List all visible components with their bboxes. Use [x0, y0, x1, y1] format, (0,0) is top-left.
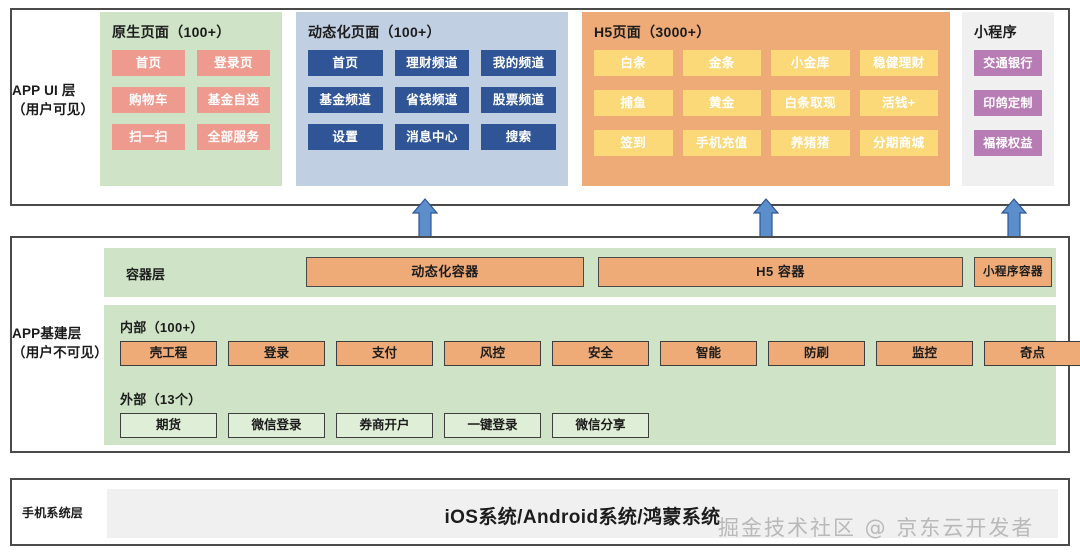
container-band-label: 容器层 [126, 264, 165, 283]
dynamic-container-box[interactable]: 动态化容器 [306, 257, 584, 287]
mini-program-chip[interactable]: 交通银行 [974, 50, 1042, 76]
h5-page-chip[interactable]: 捕鱼 [594, 90, 673, 116]
h5-page-chip[interactable]: 白条 [594, 50, 673, 76]
h5-pages-group: H5页面（3000+） 白条 金条 小金库 稳健理财 捕鱼 黄金 白条取现 活钱… [582, 12, 950, 186]
phone-os-text: iOS系统/Android系统/鸿蒙系统 [107, 502, 1058, 529]
dynamic-page-chip[interactable]: 搜索 [481, 124, 556, 150]
dynamic-page-chip[interactable]: 股票频道 [481, 87, 556, 113]
mini-program-title: 小程序 [974, 22, 1017, 42]
mini-program-chip-grid: 交通银行 印鸽定制 福禄权益 [974, 50, 1042, 156]
h5-page-chip[interactable]: 金条 [683, 50, 762, 76]
h5-page-chip[interactable]: 白条取现 [771, 90, 850, 116]
h5-page-chip[interactable]: 黄金 [683, 90, 762, 116]
h5-container-box[interactable]: H5 容器 [598, 257, 963, 287]
external-module-box[interactable]: 微信分享 [552, 413, 649, 438]
mini-program-chip[interactable]: 福禄权益 [974, 130, 1042, 156]
app-infrastructure-layer-label: APP基建层 （用户不可见） [12, 325, 116, 362]
native-pages-title: 原生页面（100+） [112, 22, 231, 42]
internal-module-box[interactable]: 智能 [660, 341, 757, 366]
native-page-chip[interactable]: 首页 [112, 50, 185, 76]
native-pages-group: 原生页面（100+） 首页 登录页 购物车 基金自选 扫一扫 全部服务 [100, 12, 282, 186]
app-infrastructure-layer-panel: 容器层 动态化容器 H5 容器 小程序容器 内部（100+） 壳工程 登录 支付… [10, 236, 1070, 453]
dynamic-page-chip[interactable]: 理财频道 [395, 50, 470, 76]
dynamic-page-chip[interactable]: 省钱频道 [395, 87, 470, 113]
native-page-chip[interactable]: 全部服务 [197, 124, 270, 150]
native-page-chip[interactable]: 购物车 [112, 87, 185, 113]
internal-modules-row: 壳工程 登录 支付 风控 安全 智能 防刷 监控 奇点 [120, 341, 1080, 366]
native-pages-chip-grid: 首页 登录页 购物车 基金自选 扫一扫 全部服务 [112, 50, 270, 150]
h5-page-chip[interactable]: 签到 [594, 130, 673, 156]
internal-module-box[interactable]: 奇点 [984, 341, 1080, 366]
dynamic-page-chip[interactable]: 首页 [308, 50, 383, 76]
architecture-diagram: APP UI 层 （用户可见） 原生页面（100+） 首页 登录页 购物车 基金… [0, 0, 1080, 557]
internal-module-box[interactable]: 监控 [876, 341, 973, 366]
mini-program-chip[interactable]: 印鸽定制 [974, 90, 1042, 116]
h5-page-chip[interactable]: 养猪猪 [771, 130, 850, 156]
internal-module-box[interactable]: 登录 [228, 341, 325, 366]
dynamic-pages-group: 动态化页面（100+） 首页 理财频道 我的频道 基金频道 省钱频道 股票频道 … [296, 12, 568, 186]
internal-module-box[interactable]: 防刷 [768, 341, 865, 366]
dynamic-page-chip[interactable]: 消息中心 [395, 124, 470, 150]
external-module-box[interactable]: 一键登录 [444, 413, 541, 438]
h5-page-chip[interactable]: 手机充值 [683, 130, 762, 156]
external-module-box[interactable]: 券商开户 [336, 413, 433, 438]
h5-pages-title: H5页面（3000+） [594, 22, 711, 42]
phone-os-layer-panel: iOS系统/Android系统/鸿蒙系统 [10, 478, 1070, 546]
dynamic-pages-title: 动态化页面（100+） [308, 22, 441, 42]
phone-os-band: iOS系统/Android系统/鸿蒙系统 [107, 489, 1058, 538]
dynamic-page-chip[interactable]: 我的频道 [481, 50, 556, 76]
external-module-box[interactable]: 期货 [120, 413, 217, 438]
h5-page-chip[interactable]: 活钱+ [860, 90, 939, 116]
external-modules-row: 期货 微信登录 券商开户 一键登录 微信分享 [120, 413, 649, 438]
native-page-chip[interactable]: 基金自选 [197, 87, 270, 113]
mini-program-group: 小程序 交通银行 印鸽定制 福禄权益 [962, 12, 1054, 186]
h5-page-chip[interactable]: 分期商城 [860, 130, 939, 156]
container-band: 容器层 动态化容器 H5 容器 小程序容器 [104, 248, 1056, 297]
dynamic-pages-chip-grid: 首页 理财频道 我的频道 基金频道 省钱频道 股票频道 设置 消息中心 搜索 [308, 50, 556, 150]
h5-page-chip[interactable]: 小金库 [771, 50, 850, 76]
internal-module-box[interactable]: 风控 [444, 341, 541, 366]
module-band: 内部（100+） 壳工程 登录 支付 风控 安全 智能 防刷 监控 奇点 外部（… [104, 305, 1056, 445]
external-module-box[interactable]: 微信登录 [228, 413, 325, 438]
native-page-chip[interactable]: 扫一扫 [112, 124, 185, 150]
h5-page-chip[interactable]: 稳健理财 [860, 50, 939, 76]
h5-pages-chip-grid: 白条 金条 小金库 稳健理财 捕鱼 黄金 白条取现 活钱+ 签到 手机充值 养猪… [594, 50, 938, 156]
internal-modules-heading: 内部（100+） [120, 317, 204, 336]
internal-module-box[interactable]: 支付 [336, 341, 433, 366]
app-ui-layer-label: APP UI 层 （用户可见） [12, 82, 108, 119]
phone-os-layer-label: 手机系统层 [22, 505, 112, 522]
internal-module-box[interactable]: 壳工程 [120, 341, 217, 366]
dynamic-page-chip[interactable]: 设置 [308, 124, 383, 150]
internal-module-box[interactable]: 安全 [552, 341, 649, 366]
external-modules-heading: 外部（13个） [120, 389, 202, 408]
dynamic-page-chip[interactable]: 基金频道 [308, 87, 383, 113]
mini-program-container-box[interactable]: 小程序容器 [974, 257, 1052, 287]
native-page-chip[interactable]: 登录页 [197, 50, 270, 76]
